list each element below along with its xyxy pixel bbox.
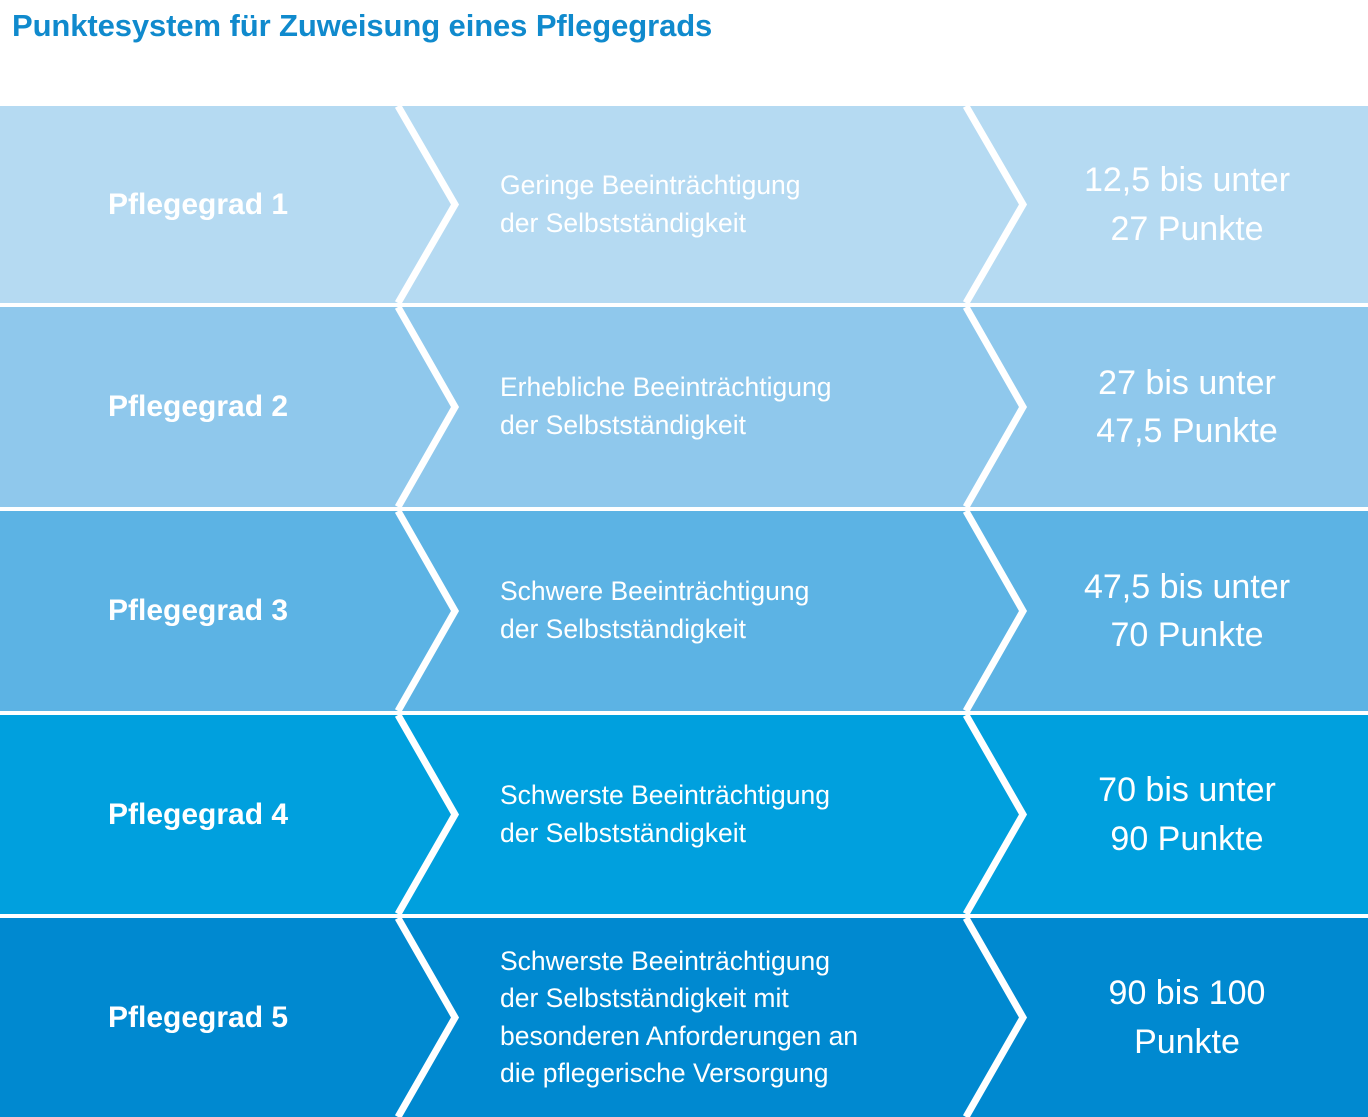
description-line: Schwere Beeinträchtigung — [500, 573, 809, 611]
points-line: 70 bis unter — [1098, 766, 1276, 814]
pflegegrad-row: Pflegegrad 4Schwerste Beeinträchtigungde… — [0, 715, 1368, 914]
points-line: 70 Punkte — [1084, 611, 1290, 659]
description-line: die pflegerische Versorgung — [500, 1055, 858, 1092]
points-cell: 47,5 bis unter70 Punkte — [1022, 511, 1368, 711]
pflegegrad-rows: Pflegegrad 1Geringe Beeinträchtigungder … — [0, 106, 1368, 1117]
description-line: Erhebliche Beeinträchtigung — [500, 369, 831, 407]
description-line: besonderen Anforderungen an — [500, 1018, 858, 1055]
description-cell: Schwerste Beeinträchtigungder Selbststän… — [455, 918, 955, 1117]
grade-label: Pflegegrad 4 — [108, 797, 288, 832]
description-text: Geringe Beeinträchtigungder Selbstständi… — [500, 167, 801, 242]
pflegegrad-row: Pflegegrad 5Schwerste Beeinträchtigungde… — [0, 918, 1368, 1117]
points-cell: 12,5 bis unter27 Punkte — [1022, 106, 1368, 303]
points-cell: 27 bis unter47,5 Punkte — [1022, 307, 1368, 507]
description-text: Schwere Beeinträchtigungder Selbstständi… — [500, 573, 809, 648]
points-line: 27 bis unter — [1096, 359, 1277, 407]
pflegegrad-row: Pflegegrad 2Erhebliche Beeinträchtigungd… — [0, 307, 1368, 507]
points-line: 27 Punkte — [1084, 205, 1290, 253]
points-line: 90 bis 100 — [1109, 969, 1266, 1017]
grade-cell: Pflegegrad 4 — [0, 715, 398, 914]
grade-cell: Pflegegrad 1 — [0, 106, 398, 303]
points-text: 47,5 bis unter70 Punkte — [1084, 563, 1290, 660]
points-cell: 70 bis unter90 Punkte — [1022, 715, 1368, 914]
description-text: Erhebliche Beeinträchtigungder Selbststä… — [500, 369, 831, 444]
points-line: 12,5 bis unter — [1084, 156, 1290, 204]
points-line: 47,5 Punkte — [1096, 407, 1277, 455]
description-text: Schwerste Beeinträchtigungder Selbststän… — [500, 943, 858, 1091]
points-line: Punkte — [1109, 1018, 1266, 1066]
points-text: 12,5 bis unter27 Punkte — [1084, 156, 1290, 253]
pflegegrad-row: Pflegegrad 1Geringe Beeinträchtigungder … — [0, 106, 1368, 303]
page-title: Punktesystem für Zuweisung eines Pflegeg… — [12, 6, 1352, 50]
points-text: 27 bis unter47,5 Punkte — [1096, 359, 1277, 456]
description-line: Schwerste Beeinträchtigung — [500, 943, 858, 980]
grade-cell: Pflegegrad 5 — [0, 918, 398, 1117]
description-line: der Selbstständigkeit mit — [500, 980, 858, 1017]
description-cell: Schwere Beeinträchtigungder Selbstständi… — [455, 511, 955, 711]
points-text: 70 bis unter90 Punkte — [1098, 766, 1276, 863]
points-line: 47,5 bis unter — [1084, 563, 1290, 611]
grade-label: Pflegegrad 3 — [108, 593, 288, 628]
description-line: der Selbstständigkeit — [500, 407, 831, 445]
infographic-root: Punktesystem für Zuweisung eines Pflegeg… — [0, 0, 1368, 1117]
points-cell: 90 bis 100Punkte — [1022, 918, 1368, 1117]
grade-cell: Pflegegrad 2 — [0, 307, 398, 507]
grade-label: Pflegegrad 5 — [108, 1000, 288, 1035]
description-line: Schwerste Beeinträchtigung — [500, 777, 830, 815]
description-line: der Selbstständigkeit — [500, 205, 801, 243]
grade-label: Pflegegrad 1 — [108, 187, 288, 222]
description-cell: Geringe Beeinträchtigungder Selbstständi… — [455, 106, 955, 303]
grade-cell: Pflegegrad 3 — [0, 511, 398, 711]
description-line: der Selbstständigkeit — [500, 815, 830, 853]
description-text: Schwerste Beeinträchtigungder Selbststän… — [500, 777, 830, 852]
description-line: Geringe Beeinträchtigung — [500, 167, 801, 205]
pflegegrad-row: Pflegegrad 3Schwere Beeinträchtigungder … — [0, 511, 1368, 711]
points-text: 90 bis 100Punkte — [1109, 969, 1266, 1066]
grade-label: Pflegegrad 2 — [108, 389, 288, 424]
description-cell: Erhebliche Beeinträchtigungder Selbststä… — [455, 307, 955, 507]
description-cell: Schwerste Beeinträchtigungder Selbststän… — [455, 715, 955, 914]
description-line: der Selbstständigkeit — [500, 611, 809, 649]
points-line: 90 Punkte — [1098, 815, 1276, 863]
